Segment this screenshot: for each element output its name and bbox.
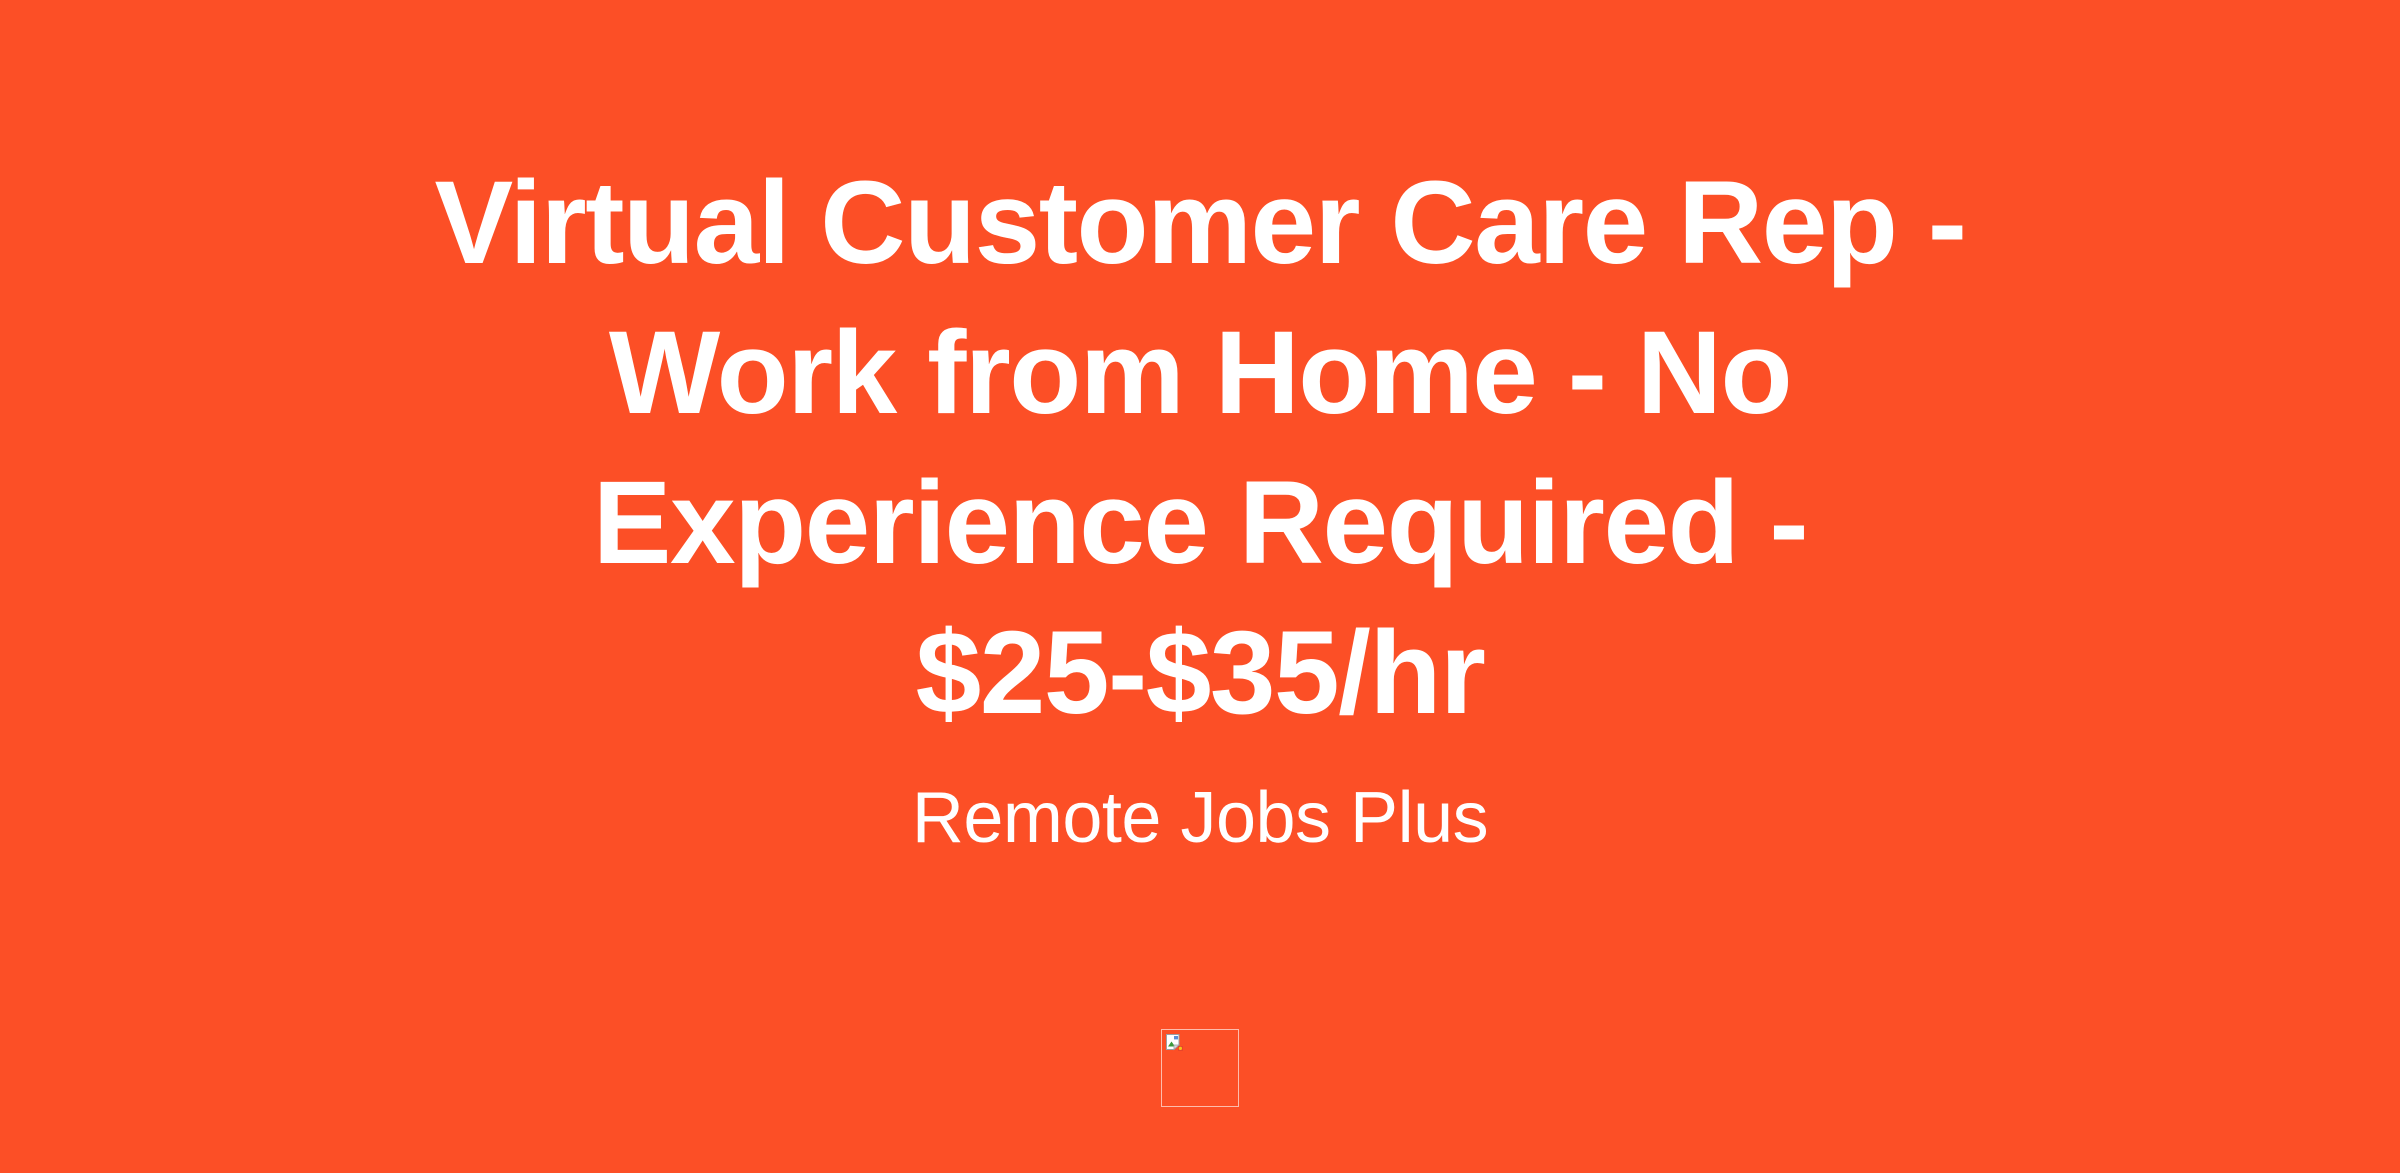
page-title: Virtual Customer Care Rep - Work from Ho… bbox=[425, 148, 1975, 748]
hero-section: Virtual Customer Care Rep - Work from Ho… bbox=[425, 0, 1975, 866]
share-card-page: Virtual Customer Care Rep - Work from Ho… bbox=[0, 0, 2400, 1173]
page-subtitle: Remote Jobs Plus bbox=[425, 770, 1975, 866]
broken-image-placeholder[interactable] bbox=[1161, 1029, 1239, 1107]
broken-image-icon bbox=[1165, 1033, 1187, 1055]
media-slot bbox=[1161, 1029, 1239, 1107]
